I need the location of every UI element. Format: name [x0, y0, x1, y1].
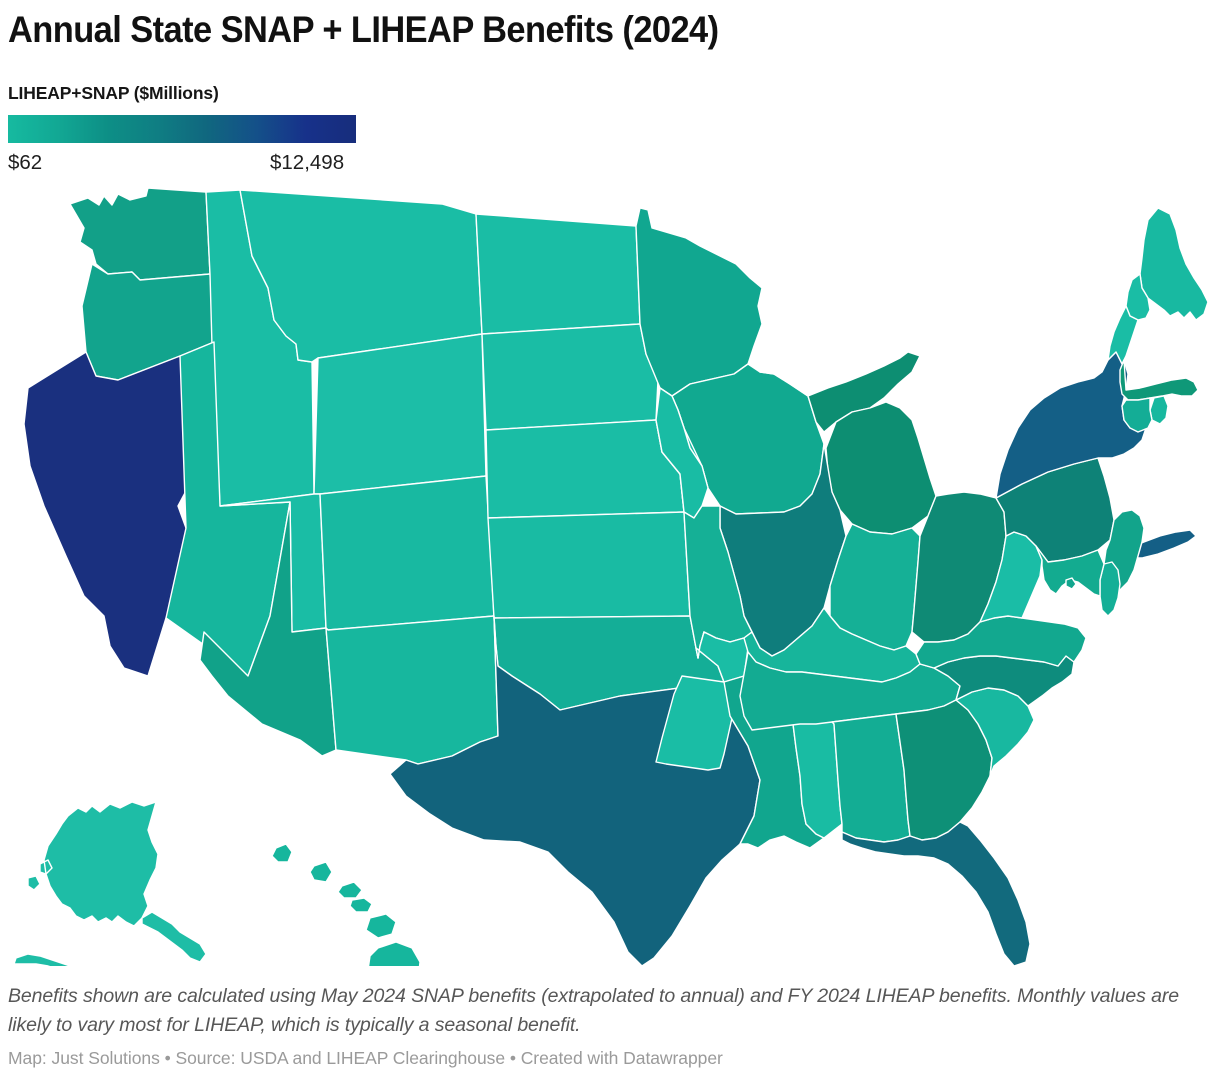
legend-labels: $62 $12,498 [8, 150, 368, 178]
state-HI[interactable] [272, 844, 420, 966]
state-AK-aleutians[interactable] [14, 954, 98, 966]
legend-max-label: $12,498 [270, 150, 344, 176]
state-AK[interactable] [28, 802, 158, 926]
state-MI-low[interactable] [826, 402, 936, 534]
state-NM[interactable] [326, 616, 498, 764]
chart-notes: Benefits shown are calculated using May … [8, 982, 1198, 1040]
state-ND[interactable] [476, 214, 640, 334]
legend: LIHEAP+SNAP ($Millions) $62 $12,498 [8, 82, 408, 178]
state-RI[interactable] [1150, 396, 1168, 424]
state-SD[interactable] [482, 324, 658, 430]
us-choropleth-map[interactable] [0, 176, 1220, 966]
legend-min-label: $62 [8, 150, 42, 176]
state-ME[interactable] [1140, 208, 1208, 320]
legend-title: LIHEAP+SNAP ($Millions) [8, 82, 408, 104]
state-KS[interactable] [488, 512, 690, 618]
state-CO[interactable] [320, 476, 494, 630]
map-svg [0, 176, 1220, 966]
legend-gradient-bar [8, 115, 356, 143]
state-CA[interactable] [24, 352, 200, 676]
state-MA[interactable] [1120, 360, 1198, 400]
state-NE[interactable] [486, 420, 684, 518]
state-FL[interactable] [842, 822, 1030, 966]
choropleth-map-page: Annual State SNAP + LIHEAP Benefits (202… [0, 0, 1220, 1088]
chart-footer-credits: Map: Just Solutions • Source: USDA and L… [8, 1046, 1198, 1070]
state-AK-panhandle[interactable] [142, 912, 206, 962]
state-WY[interactable] [314, 334, 486, 494]
page-title: Annual State SNAP + LIHEAP Benefits (202… [8, 8, 719, 52]
